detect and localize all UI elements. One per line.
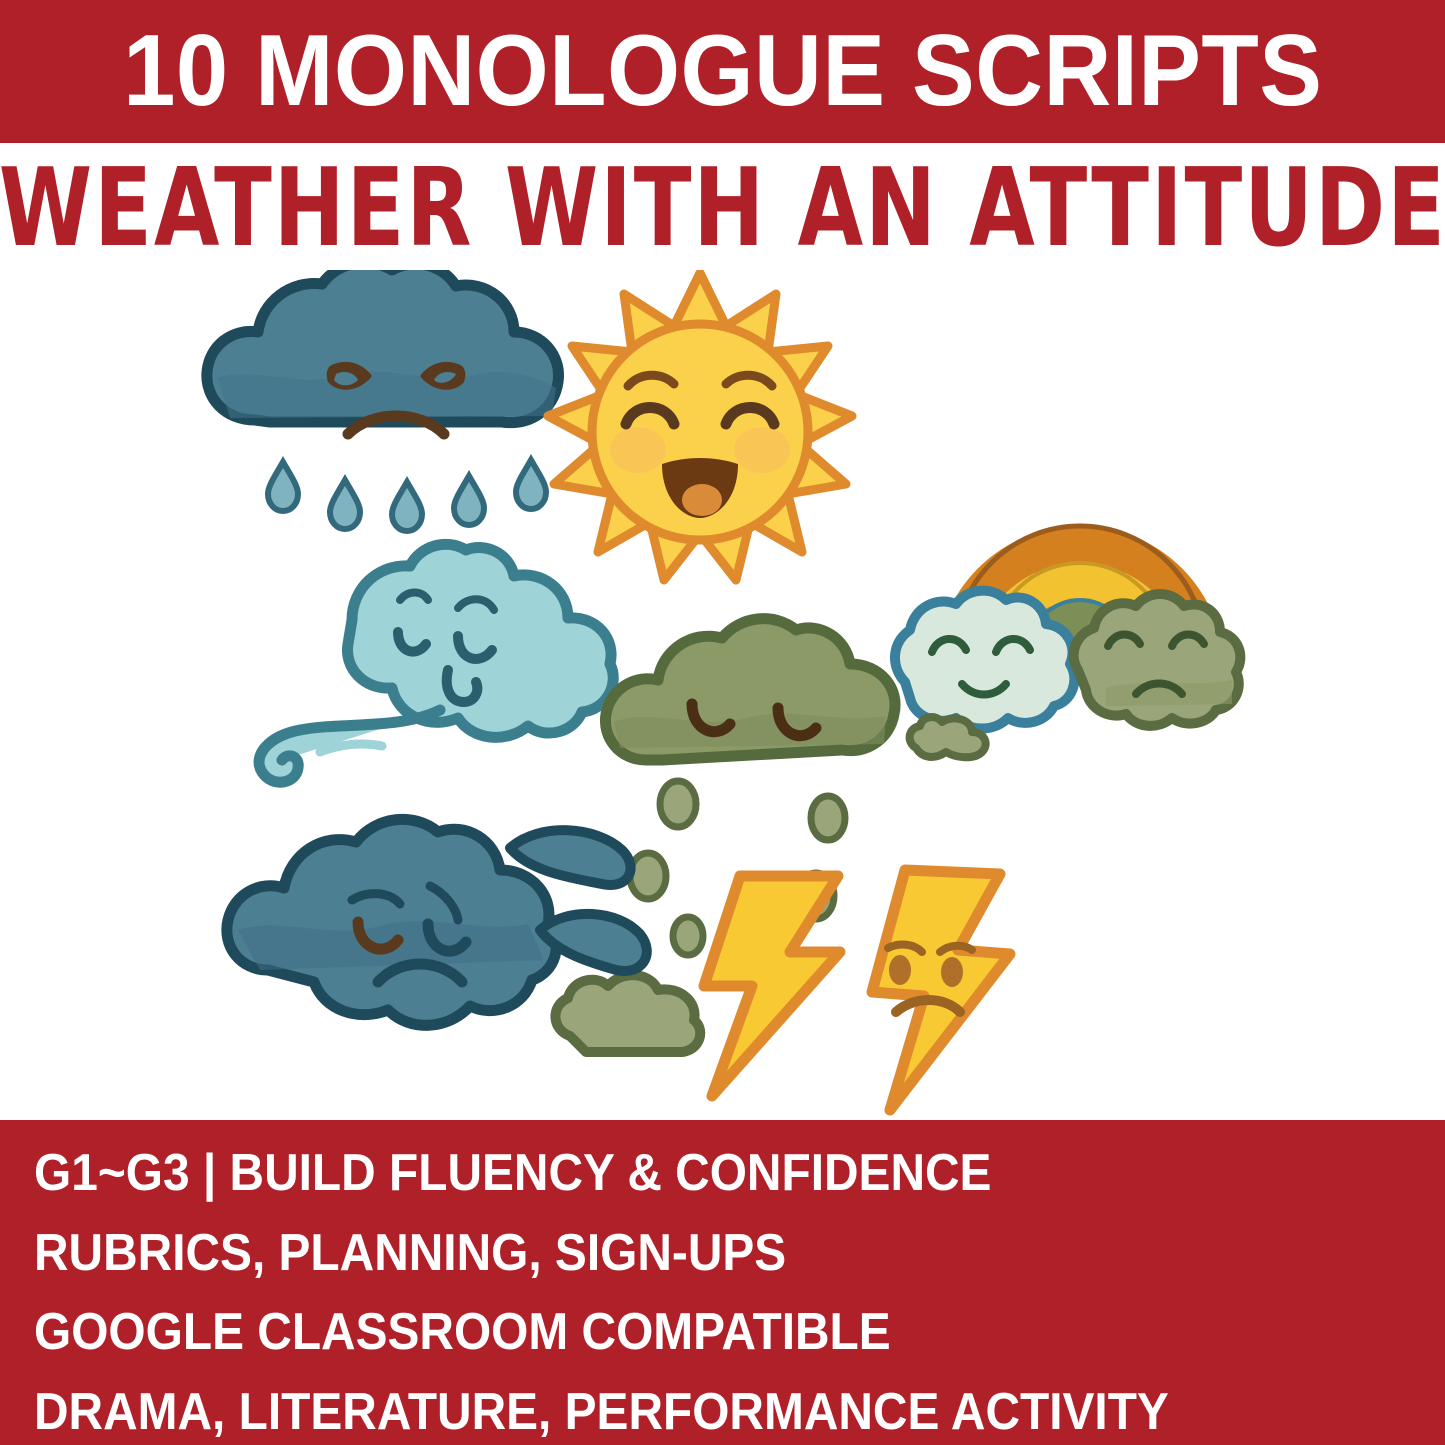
product-cover: 10 MONOLOGUE SCRIPTS WEATHER WITH AN ATT… bbox=[0, 0, 1445, 1445]
subtitle: WEATHER WITH AN ATTITUDE bbox=[0, 154, 1445, 262]
page-title: 10 MONOLOGUE SCRIPTS bbox=[123, 21, 1322, 122]
feature-list: G1~G3 | BUILD FLUENCY & CONFIDENCE RUBRI… bbox=[34, 1134, 1104, 1445]
subtitle-area: WEATHER WITH AN ATTITUDE bbox=[0, 143, 1445, 273]
grumpy-lightning-bolt-icon bbox=[872, 870, 1010, 1110]
feature-item: DRAMA, LITERATURE, PERFORMANCE ACTIVITY bbox=[34, 1373, 1018, 1445]
angry-rain-cloud-icon bbox=[207, 270, 559, 531]
raindrops bbox=[268, 460, 546, 531]
happy-sun-icon bbox=[548, 273, 852, 580]
plain-lightning-bolt-icon bbox=[704, 876, 840, 1096]
sad-olive-cloud-icon bbox=[1074, 594, 1241, 726]
feature-item: GOOGLE CLASSROOM COMPATIBLE bbox=[34, 1293, 1018, 1373]
sleepy-wind-cloud-icon bbox=[259, 544, 613, 782]
footer-banner: G1~G3 | BUILD FLUENCY & CONFIDENCE RUBRI… bbox=[0, 1120, 1445, 1445]
top-banner: 10 MONOLOGUE SCRIPTS bbox=[0, 0, 1445, 143]
weather-illustration bbox=[0, 270, 1445, 1120]
feature-item: RUBRICS, PLANNING, SIGN-UPS bbox=[34, 1214, 1018, 1294]
feature-item: G1~G3 | BUILD FLUENCY & CONFIDENCE bbox=[34, 1134, 1018, 1214]
happy-pale-cloud-icon bbox=[895, 591, 1074, 729]
